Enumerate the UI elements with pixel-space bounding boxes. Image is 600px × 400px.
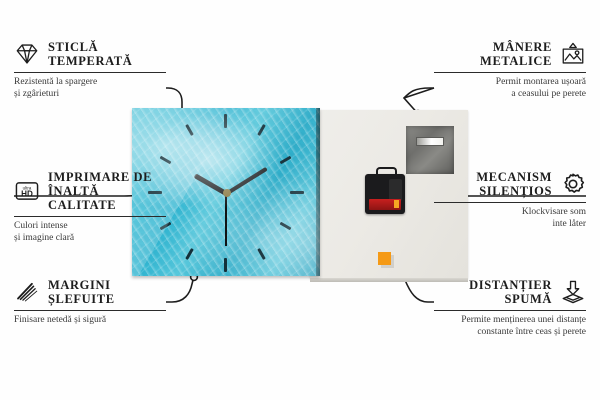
callout-foam-spacer: DISTANȚIER SPUMĂ Permite menținerea unei… xyxy=(434,278,586,338)
callout-subtitle-line2: a ceasului pe perete xyxy=(434,89,586,101)
callout-rule xyxy=(14,72,166,73)
tick-11 xyxy=(185,124,194,136)
callout-subtitle-line1: Culori intense xyxy=(14,221,166,233)
tick-12 xyxy=(224,114,227,128)
tick-7 xyxy=(185,248,194,260)
quartz-movement-box xyxy=(365,174,405,214)
callout-polished-edges: MARGINI ȘLEFUITE Finisare netedă și sigu… xyxy=(14,278,166,327)
callout-rule xyxy=(14,216,166,217)
tick-10 xyxy=(160,156,172,165)
movement-hook xyxy=(376,167,397,178)
callout-subtitle-line2: inte låter xyxy=(434,219,586,231)
callout-rule xyxy=(14,310,166,311)
ultra-hd-bottom: HD xyxy=(21,190,33,199)
movement-highlight xyxy=(389,179,402,201)
callout-header: STICLĂ TEMPERATĂ xyxy=(14,40,166,68)
diamond-icon xyxy=(14,41,40,67)
product-photo xyxy=(132,108,468,280)
callout-title-line1: MÂNERE xyxy=(480,40,552,54)
callout-title-line2: TEMPERATĂ xyxy=(48,54,132,68)
tick-1 xyxy=(257,124,266,136)
hour-hand xyxy=(194,173,228,195)
callout-subtitle-line1: Klockvisare som xyxy=(434,207,586,219)
hanger-slot xyxy=(416,137,444,146)
callout-subtitle-line2: și imagine clară xyxy=(14,233,166,245)
callout-title-line2: ȘLEFUITE xyxy=(48,292,115,306)
tick-3 xyxy=(290,191,304,194)
foam-spacer-pad xyxy=(378,252,391,265)
callout-rule xyxy=(434,72,586,73)
callout-title-line2: SILENȚIOS xyxy=(476,184,552,198)
callout-hd-print: ultra HD IMPRIMARE DE ÎNALTĂ CALITATE Cu… xyxy=(14,170,166,244)
callout-title-line1: MECANISM xyxy=(476,170,552,184)
picture-hanger-icon xyxy=(560,41,586,67)
callout-silent-mechanism: MECANISM SILENȚIOS Klockvisare som inte … xyxy=(434,170,586,230)
callout-title-line2: SPUMĂ xyxy=(469,292,552,306)
metal-hanger-plate xyxy=(406,126,454,174)
callout-title-line1: DISTANȚIER xyxy=(469,278,552,292)
minute-hand xyxy=(225,167,268,196)
callout-tempered-glass: STICLĂ TEMPERATĂ Rezistentă la spargere … xyxy=(14,40,166,100)
foam-spacer-icon xyxy=(560,279,586,305)
callout-header: MECANISM SILENȚIOS xyxy=(434,170,586,198)
leader-edges xyxy=(166,280,193,302)
second-hand xyxy=(225,194,227,246)
callout-header: DISTANȚIER SPUMĂ xyxy=(434,278,586,306)
hand-center-cap xyxy=(223,189,231,197)
callout-subtitle-line1: Rezistentă la spargere xyxy=(14,77,166,89)
callout-title-line2: ÎNALTĂ CALITATE xyxy=(48,184,166,212)
callout-subtitle-line2: constante între ceas și perete xyxy=(434,327,586,339)
callout-header: ultra HD IMPRIMARE DE ÎNALTĂ CALITATE xyxy=(14,170,166,212)
tick-2 xyxy=(280,156,292,165)
callout-subtitle-line1: Finisare netedă și sigură xyxy=(14,315,166,327)
callout-header: MARGINI ȘLEFUITE xyxy=(14,278,166,306)
tick-5 xyxy=(257,248,266,260)
ultra-hd-icon: ultra HD xyxy=(14,178,40,204)
callout-subtitle-line2: și zgârieturi xyxy=(14,89,166,101)
callout-title-line1: MARGINI xyxy=(48,278,115,292)
callout-title-line2: METALICE xyxy=(480,54,552,68)
callout-subtitle-line1: Permit montarea ușoară xyxy=(434,77,586,89)
polished-edges-icon xyxy=(14,279,40,305)
gear-icon xyxy=(560,171,586,197)
tick-6 xyxy=(224,258,227,272)
glass-right-edge xyxy=(316,108,320,276)
product-feature-infographic: STICLĂ TEMPERATĂ Rezistentă la spargere … xyxy=(0,0,600,400)
callout-header: MÂNERE METALICE xyxy=(434,40,586,68)
callout-rule xyxy=(434,202,586,203)
callout-metal-hooks: MÂNERE METALICE Permit montarea ușoară a… xyxy=(434,40,586,100)
battery xyxy=(369,199,401,210)
callout-subtitle-line1: Permite menținerea unei distanțe xyxy=(434,315,586,327)
callout-rule xyxy=(434,310,586,311)
callout-title-line1: STICLĂ xyxy=(48,40,132,54)
tick-4 xyxy=(280,222,292,231)
callout-title-line1: IMPRIMARE DE xyxy=(48,170,166,184)
